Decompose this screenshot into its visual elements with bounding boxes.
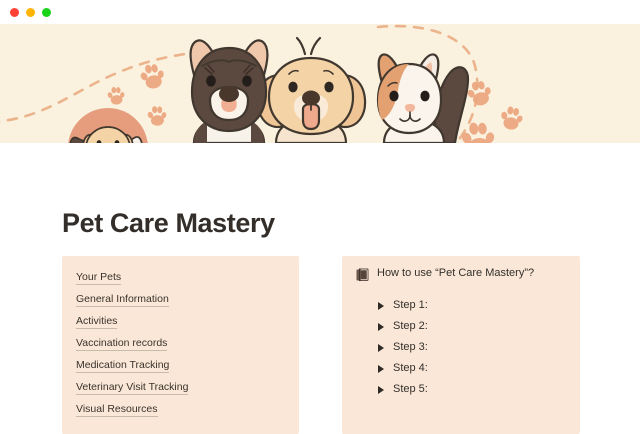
banner-illustration (0, 24, 640, 143)
window-titlebar (0, 0, 640, 24)
step-toggle-2[interactable]: Step 2: (356, 316, 566, 337)
navigation-callout: Your Pets General Information Activities… (62, 256, 299, 434)
nav-link-visual-resources[interactable]: Visual Resources (76, 398, 285, 420)
nav-link-label: General Information (76, 293, 169, 307)
nav-link-label: Medication Tracking (76, 359, 169, 373)
nav-link-general-information[interactable]: General Information (76, 288, 285, 310)
chevron-right-icon[interactable] (378, 323, 384, 331)
nav-link-activities[interactable]: Activities (76, 310, 285, 332)
step-label: Step 2: (393, 320, 428, 333)
nav-link-label: Activities (76, 315, 117, 329)
nav-link-veterinary-visit-tracking[interactable]: Veterinary Visit Tracking (76, 376, 285, 398)
traffic-light-controls (10, 8, 51, 17)
nav-link-vaccination-records[interactable]: Vaccination records (76, 332, 285, 354)
step-toggle-3[interactable]: Step 3: (356, 337, 566, 358)
step-label: Step 4: (393, 362, 428, 375)
nav-link-your-pets[interactable]: Your Pets (76, 266, 285, 288)
chevron-right-icon[interactable] (378, 386, 384, 394)
step-label: Step 5: (393, 383, 428, 396)
chevron-right-icon[interactable] (378, 365, 384, 373)
nav-link-label: Visual Resources (76, 403, 158, 417)
content-columns: Your Pets General Information Activities… (62, 256, 580, 434)
nav-link-label: Vaccination records (76, 337, 167, 351)
step-label: Step 3: (393, 341, 428, 354)
page-body: Pet Care Mastery Your Pets General Infor… (0, 143, 640, 400)
chevron-right-icon[interactable] (378, 302, 384, 310)
navigation-link-list: Your Pets General Information Activities… (76, 266, 285, 420)
step-label: Step 1: (393, 299, 428, 312)
nav-link-label: Veterinary Visit Tracking (76, 381, 188, 395)
notebook-icon (356, 268, 369, 287)
how-to-use-heading: How to use “Pet Care Mastery”? (377, 267, 534, 280)
page-cover-banner[interactable] (0, 24, 640, 143)
nav-link-label: Your Pets (76, 271, 121, 285)
step-toggle-1[interactable]: Step 1: (356, 295, 566, 316)
chevron-right-icon[interactable] (378, 344, 384, 352)
maximize-window-button[interactable] (42, 8, 51, 17)
page-title: Pet Care Mastery (62, 208, 275, 239)
close-window-button[interactable] (10, 8, 19, 17)
how-to-use-callout: How to use “Pet Care Mastery”? Step 1: S… (342, 256, 580, 434)
nav-link-medication-tracking[interactable]: Medication Tracking (76, 354, 285, 376)
step-toggle-5[interactable]: Step 5: (356, 379, 566, 400)
minimize-window-button[interactable] (26, 8, 35, 17)
how-to-use-header: How to use “Pet Care Mastery”? (356, 266, 566, 289)
how-to-use-step-list: Step 1: Step 2: Step 3: Step 4: Step 5: (356, 295, 566, 400)
step-toggle-4[interactable]: Step 4: (356, 358, 566, 379)
